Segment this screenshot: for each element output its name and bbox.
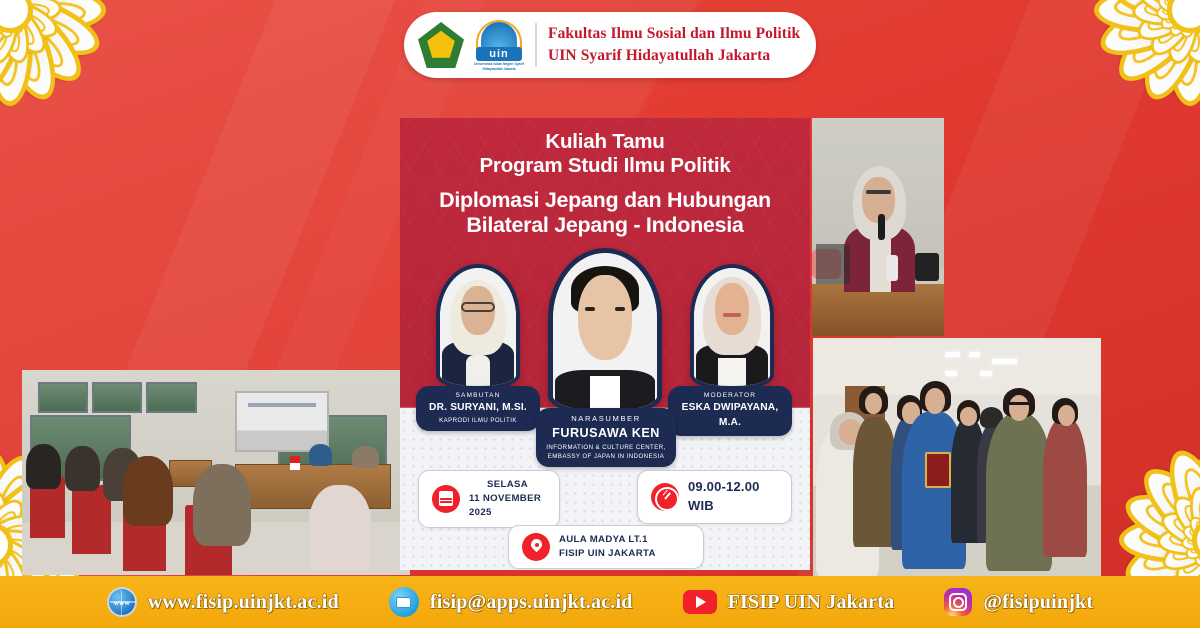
- instagram-icon: [944, 588, 972, 616]
- event-time: 09.00-12.00 WIB: [688, 478, 778, 516]
- event-date: 11 NOVEMBER 2025: [469, 492, 546, 520]
- speaker-role-0: SAMBUTAN: [424, 391, 532, 401]
- speaker-sub-0: KAPRODI ILMU POLITIK: [424, 416, 532, 425]
- speaker-sub-1-line1: INFORMATION & CULTURE CENTER,: [544, 443, 668, 452]
- speaker-plate-narasumber: NARASUMBER FURUSAWA KEN INFORMATION & CU…: [536, 408, 676, 467]
- woman-speaking-with-microphone-photo: [812, 118, 944, 336]
- event-venue-chip: AULA MADYA LT.1 FISIP UIN JAKARTA: [508, 525, 704, 569]
- portrait-eska-dwipayana: [690, 264, 774, 390]
- poster-subtitle-line1: Diplomasi Jepang dan Hubungan: [400, 188, 810, 213]
- event-venue-line1: AULA MADYA LT.1: [559, 533, 656, 547]
- poster-canvas: uin Universitas Islam Negeri Syarif Hida…: [0, 0, 1200, 628]
- speaker-sub-1-line2: EMBASSY OF JAPAN IN INDONESIA: [544, 452, 668, 461]
- poster-title-block: Kuliah Tamu Program Studi Ilmu Politik D…: [400, 118, 810, 239]
- footer-item-email[interactable]: fisip@apps.uinjkt.ac.id: [389, 587, 633, 617]
- poster-title-line2: Program Studi Ilmu Politik: [400, 154, 810, 178]
- faculty-name-line1: Fakultas Ilmu Sosial dan Ilmu Politik: [548, 23, 800, 45]
- speaker-role-1: NARASUMBER: [544, 413, 668, 424]
- uin-wordmark: uin: [476, 47, 522, 61]
- uin-logo-icon: uin Universitas Islam Negeri Syarif Hida…: [472, 20, 526, 70]
- event-day: SELASA: [487, 478, 528, 492]
- faculty-header-banner: uin Universitas Islam Negeri Syarif Hida…: [404, 12, 816, 78]
- website-label: www.fisip.uinjkt.ac.id: [148, 591, 339, 614]
- mandala-ornament-top-left: [0, 0, 170, 170]
- header-divider: [535, 23, 537, 67]
- youtube-icon: [683, 590, 717, 614]
- speaker-role-2: MODERATOR: [676, 391, 784, 401]
- email-icon: [389, 587, 419, 617]
- instagram-label: @fisipuinjkt: [983, 591, 1093, 614]
- uin-logo-subtext: Universitas Islam Negeri Syarif Hidayatu…: [472, 62, 526, 71]
- speaker-name-1: FURUSAWA KEN: [544, 424, 668, 442]
- speaker-plate-sambutan: SAMBUTAN DR. SURYANI, M.SI. KAPRODI ILMU…: [416, 386, 540, 431]
- footer-item-youtube[interactable]: FISIP UIN Jakarta: [683, 590, 895, 614]
- seminar-room-audience-photo: [22, 370, 410, 575]
- event-poster: Kuliah Tamu Program Studi Ilmu Politik D…: [400, 118, 810, 570]
- speaker-plate-moderator: MODERATOR ESKA DWIPAYANA, M.A.: [668, 386, 792, 436]
- poster-title-line1: Kuliah Tamu: [400, 130, 810, 154]
- calendar-icon: [432, 485, 460, 513]
- clock-icon: [651, 483, 679, 511]
- location-pin-icon: [522, 533, 550, 561]
- footer-item-website[interactable]: www www.fisip.uinjkt.ac.id: [107, 587, 339, 617]
- event-date-chip: SELASA 11 NOVEMBER 2025: [418, 470, 560, 528]
- mandala-ornament-top-right: [1030, 0, 1200, 170]
- kemenag-logo-icon: [418, 22, 464, 68]
- event-venue-line2: FISIP UIN JAKARTA: [559, 547, 656, 561]
- email-label: fisip@apps.uinjkt.ac.id: [430, 591, 633, 614]
- contact-footer-bar: www www.fisip.uinjkt.ac.id fisip@apps.ui…: [0, 576, 1200, 628]
- globe-icon: www: [107, 587, 137, 617]
- youtube-label: FISIP UIN Jakarta: [728, 591, 895, 614]
- speaker-name-0: DR. SURYANI, M.SI.: [424, 401, 532, 416]
- speaker-name-2: ESKA DWIPAYANA, M.A.: [676, 401, 784, 431]
- portrait-suryani: [436, 264, 520, 390]
- portrait-furusawa-ken: [548, 248, 662, 416]
- poster-subtitle-line2: Bilateral Jepang - Indonesia: [400, 213, 810, 238]
- event-time-chip: 09.00-12.00 WIB: [637, 470, 792, 524]
- group-photo-with-plaque: [813, 338, 1101, 576]
- university-name-line2: UIN Syarif Hidayatullah Jakarta: [548, 45, 800, 67]
- footer-item-instagram[interactable]: @fisipuinjkt: [944, 588, 1093, 616]
